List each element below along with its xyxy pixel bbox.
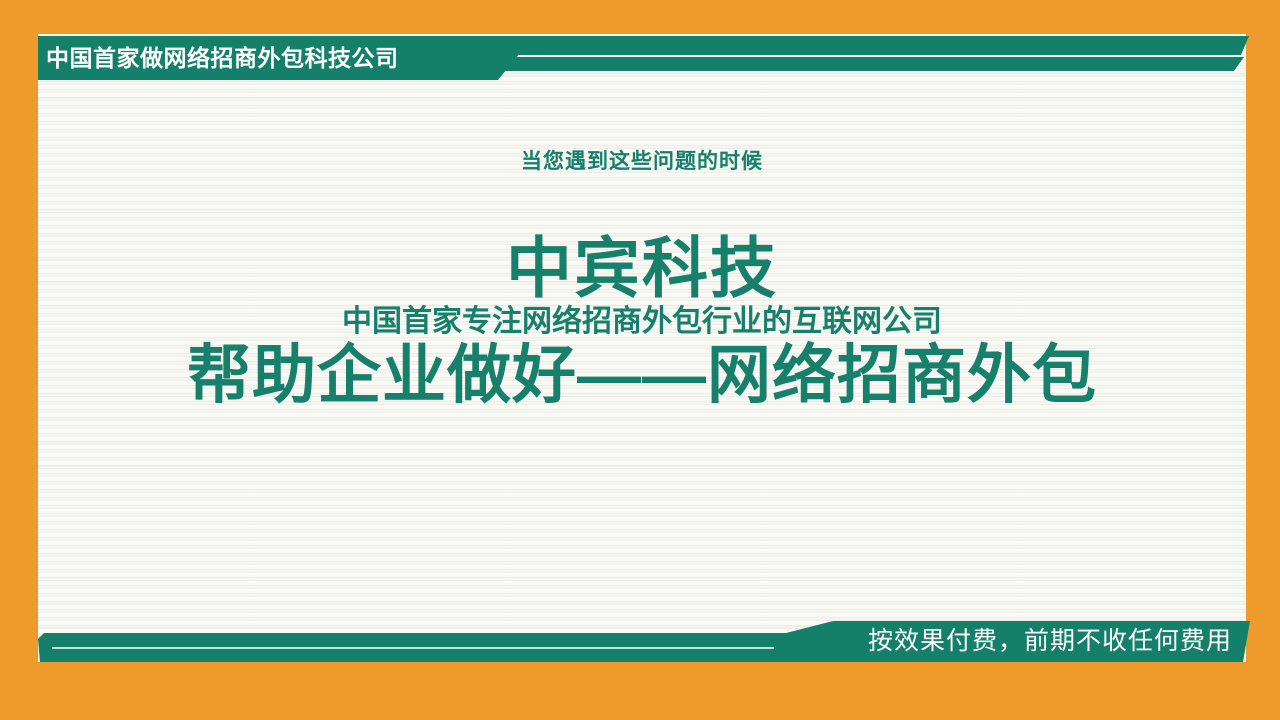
slide-root: 中国首家做网络招商外包科技公司 当您遇到这些问题的时候 中宾科技 中国首家专注网… <box>0 0 1280 720</box>
brand-title: 中宾科技 <box>38 235 1246 301</box>
footer-note-text: 按效果付费，前期不收任何费用 <box>868 624 1232 658</box>
footer-band: 按效果付费，前期不收任何费用 <box>38 620 1250 662</box>
headline-text: 帮助企业做好——网络招商外包 <box>38 343 1246 407</box>
content-stack: 当您遇到这些问题的时候 中宾科技 中国首家专注网络招商外包行业的互联网公司 帮助… <box>38 150 1246 407</box>
tagline-text: 中国首家专注网络招商外包行业的互联网公司 <box>38 307 1246 337</box>
footer-rule <box>52 647 774 649</box>
eyebrow-text: 当您遇到这些问题的时候 <box>38 150 1246 173</box>
